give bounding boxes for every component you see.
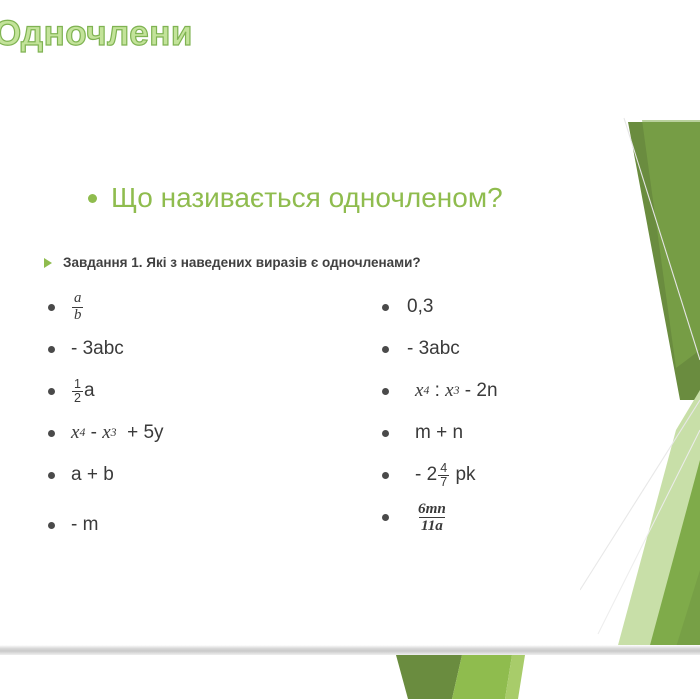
fraction-denominator: 11a <box>419 517 445 534</box>
main-heading-label: Що називається одночленом? <box>111 182 503 214</box>
list-item: 0,3 <box>382 286 682 328</box>
list-item: a + b <box>48 454 348 496</box>
bullet-dot-icon <box>382 304 389 311</box>
power-base: x <box>102 422 110 444</box>
list-item: - 2 4 7 pk <box>382 454 682 496</box>
next-slide-preview[interactable] <box>0 655 700 699</box>
bullet-dot-icon <box>48 388 55 395</box>
bullet-dot-icon <box>48 430 55 437</box>
slide-viewer[interactable]: Одночлени Що називається одночленом? Зав… <box>0 0 700 699</box>
expression-m-plus-n: m + n <box>407 422 463 444</box>
expression-minus-m: - m <box>71 514 98 536</box>
power-base: x <box>445 380 453 402</box>
list-item: m + n <box>382 412 682 454</box>
expression-zero-comma-three: 0,3 <box>407 296 433 318</box>
list-item: - m <box>48 504 348 546</box>
expression-6mn-over-11a: 6mn 11a <box>407 501 449 533</box>
bullet-dot-icon <box>88 194 97 203</box>
list-item: - 3abc <box>382 328 682 370</box>
bullet-dot-icon <box>382 430 389 437</box>
expression-tail: - 2n <box>465 380 498 402</box>
fraction-denominator: 2 <box>72 391 83 405</box>
page-title: Одночлени <box>0 14 193 54</box>
mixed-number-whole: 2 <box>427 464 438 486</box>
triangle-bullet-icon <box>44 258 52 268</box>
mixed-number-trailing-variables: pk <box>455 464 475 486</box>
list-item: x4 - x3 + 5y <box>48 412 348 454</box>
task-label: Завдання 1. Які з наведених виразів є од… <box>63 255 421 270</box>
power-base: x <box>415 380 423 402</box>
list-item: x4 : x3 - 2n <box>382 370 682 412</box>
power-base: x <box>71 422 79 444</box>
list-item: - 3abc <box>48 328 348 370</box>
task-line: Завдання 1. Які з наведених виразів є од… <box>44 255 421 270</box>
expression-minus-mixed-number-pk: - 2 4 7 pk <box>407 462 476 489</box>
expression-column-right: 0,3 - 3abc x4 : x3 - 2n m + n <box>382 286 682 538</box>
bullet-dot-icon <box>382 388 389 395</box>
current-slide: Одночлени Що називається одночленом? Зав… <box>0 0 700 648</box>
main-heading: Що називається одночленом? <box>88 182 503 214</box>
expression-a-plus-b: a + b <box>71 464 114 486</box>
expression-tail: + 5y <box>127 422 163 444</box>
fraction-numerator: 1 <box>72 378 83 391</box>
fraction-numerator: 4 <box>438 462 449 475</box>
list-item: 1 2 a <box>48 370 348 412</box>
bullet-dot-icon <box>48 304 55 311</box>
bullet-dot-icon <box>382 514 389 521</box>
expression-x4-minus-x3-plus-5y: x4 - x3 + 5y <box>71 422 164 444</box>
bullet-dot-icon <box>48 346 55 353</box>
next-slide-decorative-shapes <box>0 655 700 699</box>
fraction-denominator: 7 <box>438 475 449 489</box>
expression-minus-3abc: - 3abc <box>71 338 124 360</box>
fraction-trailing-variable: a <box>84 380 95 402</box>
expression-x4-div-x3-minus-2n: x4 : x3 - 2n <box>407 380 498 402</box>
fraction-denominator: b <box>72 307 83 323</box>
bullet-dot-icon <box>48 472 55 479</box>
list-item: 6mn 11a <box>382 496 682 538</box>
expression-a-over-b: a b <box>71 291 84 322</box>
slide-divider <box>0 645 700 655</box>
expression-minus-3abc: - 3abc <box>407 338 460 360</box>
list-item: a b <box>48 286 348 328</box>
bullet-dot-icon <box>382 472 389 479</box>
bullet-dot-icon <box>48 522 55 529</box>
expression-half-a: 1 2 a <box>71 378 95 405</box>
fraction-numerator: 6mn <box>416 501 448 517</box>
fraction-numerator: a <box>72 291 83 306</box>
expression-column-left: a b - 3abc 1 2 a <box>48 286 348 546</box>
bullet-dot-icon <box>382 346 389 353</box>
